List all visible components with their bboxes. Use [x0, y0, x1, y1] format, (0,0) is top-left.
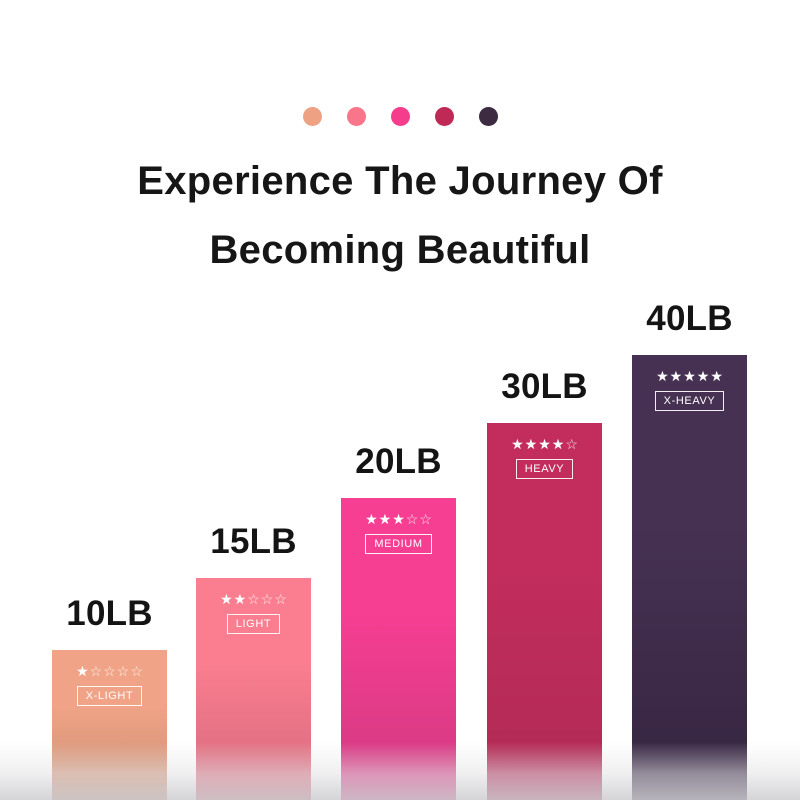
band-medium-rating-stars: ★★★☆☆: [365, 512, 432, 527]
band-x-light-level-badge: X-LIGHT: [77, 686, 143, 706]
star-filled-icon: ★: [710, 369, 723, 384]
star-filled-icon: ★: [365, 512, 378, 527]
dot-heavy: [435, 107, 454, 126]
product-infographic: Experience The Journey Of Becoming Beaut…: [0, 0, 800, 800]
star-empty-icon: ☆: [565, 437, 578, 452]
band-heavy-weight-label: 30LB: [501, 367, 587, 407]
star-filled-icon: ★: [538, 437, 551, 452]
band-heavy-bar[interactable]: ★★★★☆HEAVY: [487, 423, 602, 800]
band-x-heavy-rating-stars: ★★★★★: [656, 369, 723, 384]
dot-x-light: [303, 107, 322, 126]
band-x-light-rating-stars: ★☆☆☆☆: [76, 664, 143, 679]
band-medium[interactable]: 20LB★★★☆☆MEDIUM: [341, 498, 456, 800]
star-empty-icon: ☆: [406, 512, 419, 527]
band-x-heavy-level-badge: X-HEAVY: [655, 391, 725, 411]
page-title-line-2: Becoming Beautiful: [0, 216, 800, 285]
band-light[interactable]: 15LB★★☆☆☆LIGHT: [196, 578, 311, 800]
color-swatch-row: [0, 107, 800, 126]
band-medium-level-badge: MEDIUM: [365, 534, 431, 554]
star-filled-icon: ★: [525, 437, 538, 452]
dot-light: [347, 107, 366, 126]
band-heavy[interactable]: 30LB★★★★☆HEAVY: [487, 423, 602, 800]
resistance-band-chart: 10LB★☆☆☆☆X-LIGHT15LB★★☆☆☆LIGHT20LB★★★☆☆M…: [0, 280, 800, 800]
dot-medium: [391, 107, 410, 126]
star-empty-icon: ☆: [103, 664, 116, 679]
star-filled-icon: ★: [670, 369, 683, 384]
star-filled-icon: ★: [552, 437, 565, 452]
band-heavy-level-badge: HEAVY: [516, 459, 573, 479]
band-medium-bar[interactable]: ★★★☆☆MEDIUM: [341, 498, 456, 800]
star-filled-icon: ★: [392, 512, 405, 527]
star-filled-icon: ★: [656, 369, 669, 384]
star-filled-icon: ★: [220, 592, 233, 607]
star-empty-icon: ☆: [130, 664, 143, 679]
page-title-line-1: Experience The Journey Of: [0, 147, 800, 216]
star-filled-icon: ★: [379, 512, 392, 527]
star-filled-icon: ★: [683, 369, 696, 384]
star-empty-icon: ☆: [274, 592, 287, 607]
band-light-rating-stars: ★★☆☆☆: [220, 592, 287, 607]
star-empty-icon: ☆: [117, 664, 130, 679]
star-empty-icon: ☆: [90, 664, 103, 679]
band-x-heavy-bar[interactable]: ★★★★★X-HEAVY: [632, 355, 747, 800]
page-title: Experience The Journey Of Becoming Beaut…: [0, 147, 800, 285]
band-light-bar[interactable]: ★★☆☆☆LIGHT: [196, 578, 311, 800]
star-filled-icon: ★: [697, 369, 710, 384]
star-filled-icon: ★: [234, 592, 247, 607]
star-empty-icon: ☆: [247, 592, 260, 607]
band-x-heavy[interactable]: 40LB★★★★★X-HEAVY: [632, 355, 747, 800]
band-light-weight-label: 15LB: [210, 522, 296, 562]
band-light-level-badge: LIGHT: [227, 614, 280, 634]
band-x-light-bar[interactable]: ★☆☆☆☆X-LIGHT: [52, 650, 167, 800]
star-filled-icon: ★: [76, 664, 89, 679]
star-filled-icon: ★: [511, 437, 524, 452]
dot-x-heavy: [479, 107, 498, 126]
band-x-light[interactable]: 10LB★☆☆☆☆X-LIGHT: [52, 650, 167, 800]
band-x-light-weight-label: 10LB: [66, 594, 152, 634]
band-heavy-rating-stars: ★★★★☆: [511, 437, 578, 452]
star-empty-icon: ☆: [419, 512, 432, 527]
band-x-heavy-weight-label: 40LB: [646, 299, 732, 339]
star-empty-icon: ☆: [261, 592, 274, 607]
band-medium-weight-label: 20LB: [355, 442, 441, 482]
